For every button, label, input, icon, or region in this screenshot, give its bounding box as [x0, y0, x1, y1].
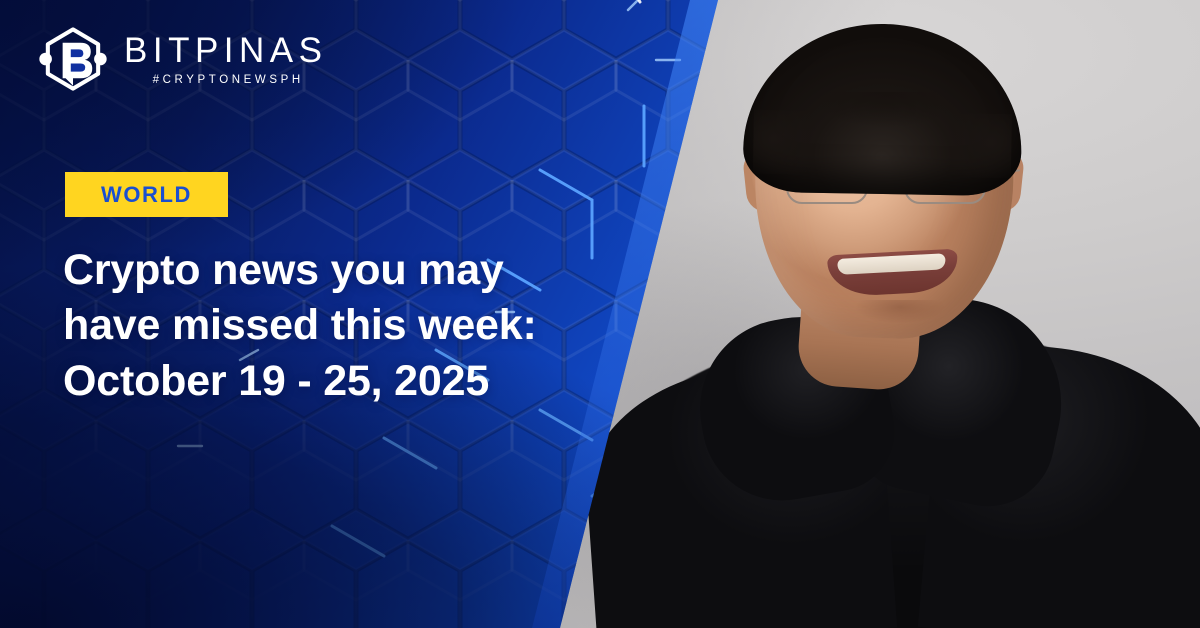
logo-name: BITPINAS	[124, 33, 327, 68]
hairline-fringe	[806, 92, 966, 136]
headline-title: Crypto news you may have missed this wee…	[63, 243, 583, 409]
bitpinas-logo[interactable]: BITPINAS #CRYPTONEWSPH	[36, 22, 327, 96]
category-badge[interactable]: WORLD	[65, 172, 228, 217]
article-banner: BITPINAS #CRYPTONEWSPH WORLD Crypto news…	[0, 0, 1200, 628]
category-badge-label: WORLD	[101, 182, 192, 208]
logo-wordmark: BITPINAS #CRYPTONEWSPH	[124, 31, 327, 87]
logo-tagline: #CRYPTONEWSPH	[124, 75, 327, 87]
hexagon-b-logo-icon	[36, 22, 110, 96]
teeth	[837, 253, 946, 275]
foreground-blur-group	[560, 300, 1200, 628]
